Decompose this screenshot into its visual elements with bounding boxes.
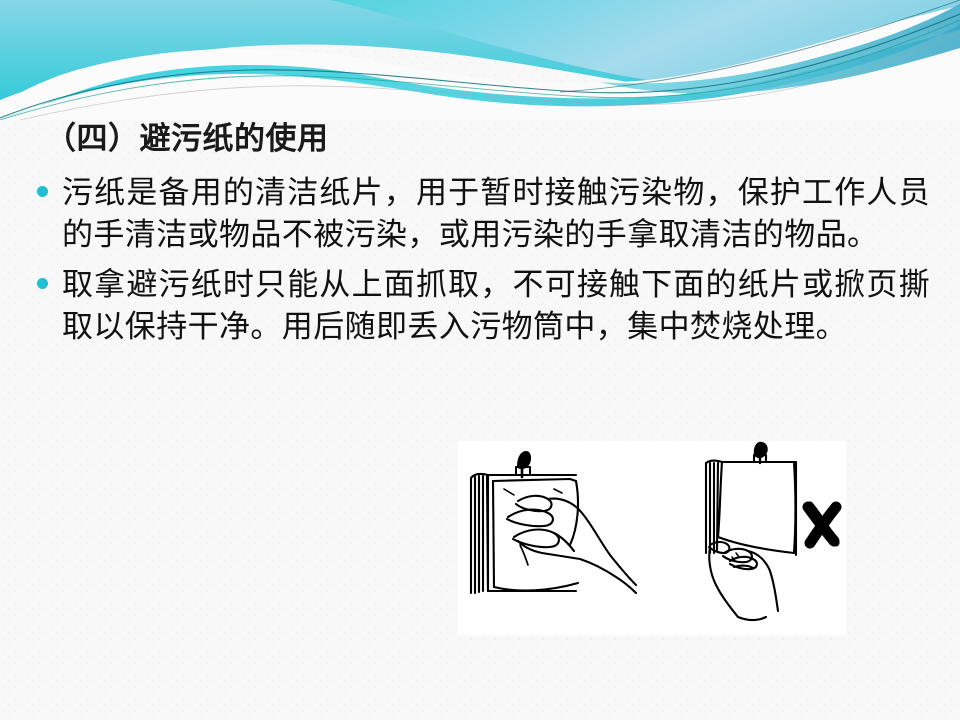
bullet-dot-icon (37, 278, 48, 289)
slide-canvas: （四）避污纸的使用 污纸是备用的清洁纸片，用于暂时接触污染物，保护工作人员的手清… (0, 0, 960, 720)
bullet-dot-icon (37, 186, 48, 197)
bullet-text: 污纸是备用的清洁纸片，用于暂时接触污染物，保护工作人员的手清洁或物品不被污染，或… (62, 172, 930, 256)
content-body: 污纸是备用的清洁纸片，用于暂时接触污染物，保护工作人员的手清洁或物品不被污染，或… (30, 172, 930, 356)
header-wave-decoration (0, 0, 960, 120)
wave-graphic (0, 0, 960, 120)
illustration-image (458, 441, 846, 635)
list-item: 取拿避污纸时只能从上面抓取，不可接触下面的纸片或掀页撕取以保持干净。用后随即丢入… (30, 264, 930, 348)
bullet-text: 取拿避污纸时只能从上面抓取，不可接触下面的纸片或掀页撕取以保持干净。用后随即丢入… (62, 264, 930, 348)
paper-handling-line-drawing (458, 441, 846, 635)
list-item: 污纸是备用的清洁纸片，用于暂时接触污染物，保护工作人员的手清洁或物品不被污染，或… (30, 172, 930, 256)
page-title: （四）避污纸的使用 (45, 118, 329, 160)
